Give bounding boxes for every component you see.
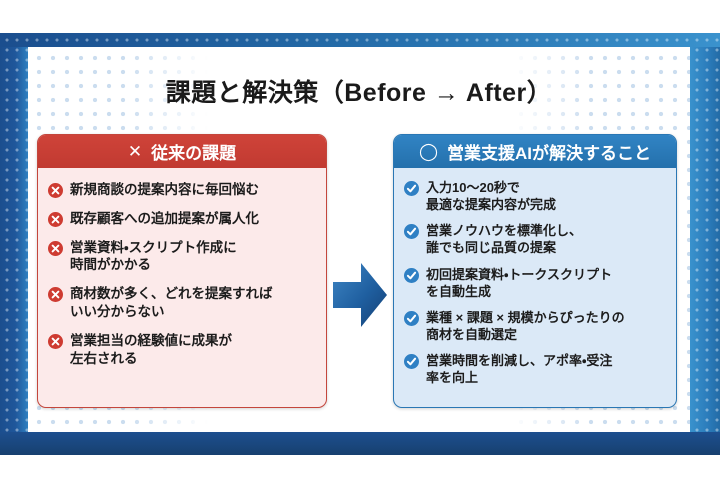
list-item: 入力10〜20秒で 最適な提案内容が完成 — [404, 179, 666, 213]
top-band-dot-pattern — [0, 33, 720, 47]
problem-panel-title: 従来の課題 — [151, 139, 236, 164]
check-circle-icon — [404, 181, 419, 196]
list-item-label: 入力10〜20秒で 最適な提案内容が完成 — [426, 179, 556, 213]
before-to-after-arrow-icon — [331, 260, 389, 330]
left-band-dot-pattern — [0, 33, 28, 455]
list-item: 営業資料・スクリプト作成に 時間がかかる — [48, 239, 316, 275]
solution-panel-body: 入力10〜20秒で 最適な提案内容が完成 営業ノウハウを標準化し、 誰でも同じ品… — [394, 168, 676, 402]
solution-panel-title: 営業支援AIが解決すること — [447, 139, 651, 164]
list-item-label: 初回提案資料・トークスクリプト を自動生成 — [426, 266, 612, 300]
check-circle-icon — [404, 311, 419, 326]
page-title: 課題と解決策（Before → After） — [28, 73, 690, 109]
problem-panel-body: 新規商談の提案内容に毎回悩む 既存顧客への追加提案が属人化 営業資料・スクリプト… — [38, 168, 326, 385]
cross-circle-icon — [48, 241, 63, 256]
cross-circle-icon — [48, 334, 63, 349]
problem-panel-header: ✕ 従来の課題 — [38, 135, 326, 168]
cross-circle-icon — [48, 212, 63, 227]
list-item: 初回提案資料・トークスクリプト を自動生成 — [404, 266, 666, 300]
list-item: 営業ノウハウを標準化し、 誰でも同じ品質の提案 — [404, 222, 666, 256]
list-item: 業種 × 課題 × 規模からぴったりの 商材を自動選定 — [404, 309, 666, 343]
check-circle-icon — [404, 268, 419, 283]
problem-panel: ✕ 従来の課題 新規商談の提案内容に毎回悩む 既存顧客への追加提案が属人化 — [37, 134, 327, 408]
list-item: 既存顧客への追加提案が属人化 — [48, 210, 316, 228]
slide-canvas: 課題と解決策（Before → After） ✕ 従来の課題 新規商談の提案内容… — [0, 33, 720, 455]
list-item-label: 営業時間を削減し、アポ率・受注 率を向上 — [426, 352, 612, 386]
decorative-top-band — [0, 33, 720, 47]
right-band-dot-pattern — [690, 33, 720, 455]
slide-content-card: 課題と解決策（Before → After） ✕ 従来の課題 新規商談の提案内容… — [28, 47, 690, 432]
solution-panel: ◯ 営業支援AIが解決すること 入力10〜20秒で 最適な提案内容が完成 営業ノ… — [393, 134, 677, 408]
list-item: 営業担当の経験値に成果が 左右される — [48, 332, 316, 368]
list-item: 新規商談の提案内容に毎回悩む — [48, 181, 316, 199]
circle-mark-icon: ◯ — [419, 143, 438, 160]
list-item-label: 営業担当の経験値に成果が 左右される — [70, 332, 232, 368]
list-item: 商材数が多く、どれを提案すれば いい分からない — [48, 285, 316, 321]
cross-circle-icon — [48, 287, 63, 302]
cross-circle-icon — [48, 183, 63, 198]
solution-panel-header: ◯ 営業支援AIが解決すること — [394, 135, 676, 168]
list-item-label: 新規商談の提案内容に毎回悩む — [70, 181, 259, 199]
list-item-label: 既存顧客への追加提案が属人化 — [70, 210, 259, 228]
list-item: 営業時間を削減し、アポ率・受注 率を向上 — [404, 352, 666, 386]
decorative-left-band — [0, 33, 28, 455]
list-item-label: 営業資料・スクリプト作成に 時間がかかる — [70, 239, 237, 275]
check-circle-icon — [404, 224, 419, 239]
list-item-label: 業種 × 課題 × 規模からぴったりの 商材を自動選定 — [426, 309, 625, 343]
list-item-label: 商材数が多く、どれを提案すれば いい分からない — [70, 285, 273, 321]
decorative-right-band — [690, 33, 720, 455]
check-circle-icon — [404, 354, 419, 369]
list-item-label: 営業ノウハウを標準化し、 誰でも同じ品質の提案 — [426, 222, 582, 256]
cross-mark-icon: ✕ — [128, 143, 142, 160]
decorative-bottom-bar — [0, 432, 720, 455]
